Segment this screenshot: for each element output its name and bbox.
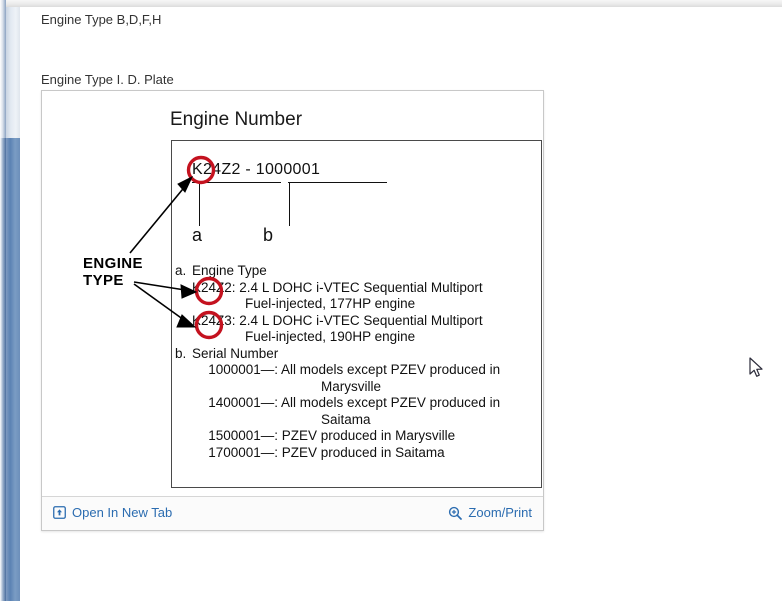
diagram-title: Engine Number: [170, 109, 302, 131]
serial-entry-0-desc2: Marysville: [321, 379, 381, 394]
heading-engine-type-bdfh: Engine Type B,D,F,H: [41, 12, 161, 27]
left-rail-scrollbar-lower[interactable]: [6, 138, 20, 601]
engine-type-entry-1-code: K24Z3:: [192, 313, 236, 328]
engine-type-entry-0-line2: Fuel-injected, 177HP engine: [175, 296, 500, 313]
open-in-new-tab-label: Open In New Tab: [72, 505, 172, 520]
engine-type-entry-0-line1: K24Z2: 2.4 L DOHC i-VTEC Sequential Mult…: [175, 280, 500, 297]
diagram-viewport: Engine Number K24Z2 - 1000001 a b ENGINE…: [42, 91, 543, 497]
callout-letter-b: b: [263, 225, 273, 246]
engine-id-plate-image-card: Engine Number K24Z2 - 1000001 a b ENGINE…: [41, 90, 544, 531]
serial-entry-1-line1: 1400001—: All models except PZEV produce…: [175, 395, 500, 412]
zoom-print-link[interactable]: Zoom/Print: [448, 505, 532, 520]
engine-number-code-text: K24Z2 - 1000001: [192, 161, 320, 179]
open-in-new-tab-icon: [53, 506, 66, 519]
browser-top-chrome-bar: [0, 0, 782, 7]
engine-type-label-line1: ENGINE: [83, 255, 143, 272]
section-b-marker: b.: [175, 346, 192, 363]
serial-entry-2-key: 1500001—:: [192, 428, 278, 445]
serial-entry-3-line1: 1700001—: PZEV produced in Saitama: [175, 445, 500, 462]
section-b-heading-text: Serial Number: [192, 346, 278, 361]
serial-entry-1-line2: Saitama: [175, 412, 500, 429]
engine-type-entry-1-line2: Fuel-injected, 190HP engine: [175, 329, 500, 346]
engine-type-entry-0-desc: 2.4 L DOHC i-VTEC Sequential Multiport: [239, 280, 482, 295]
open-in-new-tab-link[interactable]: Open In New Tab: [53, 505, 172, 520]
serial-entry-2-desc: PZEV produced in Marysville: [282, 428, 455, 443]
serial-entry-1-desc2: Saitama: [321, 412, 371, 427]
zoom-print-label: Zoom/Print: [468, 505, 532, 520]
left-navigation-rail: [0, 0, 24, 601]
engine-type-entry-1-desc: 2.4 L DOHC i-VTEC Sequential Multiport: [239, 313, 482, 328]
diagram-detail-text-block: a.Engine Type K24Z2: 2.4 L DOHC i-VTEC S…: [175, 263, 500, 461]
serial-entry-1-desc: All models except PZEV produced in: [281, 395, 500, 410]
serial-entry-3-key: 1700001—:: [192, 445, 278, 462]
serial-entry-0-line2: Marysville: [175, 379, 500, 396]
section-a-marker: a.: [175, 263, 192, 280]
leader-line-a-vertical: [199, 182, 200, 226]
magnifier-plus-icon: [448, 506, 462, 520]
left-rail-edge-shadow: [0, 138, 6, 601]
left-rail-scrollbar-upper[interactable]: [6, 7, 20, 138]
section-a-heading-text: Engine Type: [192, 263, 267, 278]
serial-entry-2-line1: 1500001—: PZEV produced in Marysville: [175, 428, 500, 445]
serial-entry-1-key: 1400001—:: [192, 395, 278, 412]
heading-engine-type-id-plate: Engine Type I. D. Plate: [41, 72, 174, 87]
callout-letter-a: a: [192, 225, 202, 246]
detail-section-a-heading: a.Engine Type: [175, 263, 500, 280]
arrow-cursor: [749, 357, 765, 379]
engine-type-entry-1-line1: K24Z3: 2.4 L DOHC i-VTEC Sequential Mult…: [175, 313, 500, 330]
page-content-area: Engine Type B,D,F,H Engine Type I. D. Pl…: [24, 7, 782, 601]
serial-entry-0-desc: All models except PZEV produced in: [281, 362, 500, 377]
image-card-footer: Open In New Tab Zoom/Print: [42, 496, 543, 530]
leader-line-a-horizontal: [192, 182, 281, 183]
engine-type-entry-0-code: K24Z2:: [192, 280, 236, 295]
engine-type-label-line2: TYPE: [83, 272, 143, 289]
leader-line-b-horizontal: [288, 182, 387, 183]
serial-entry-3-desc: PZEV produced in Saitama: [282, 445, 445, 460]
serial-entry-0-line1: 1000001—: All models except PZEV produce…: [175, 362, 500, 379]
leader-line-b-vertical: [289, 182, 290, 226]
engine-type-annotation-label: ENGINE TYPE: [83, 255, 143, 289]
detail-section-b-heading: b.Serial Number: [175, 346, 500, 363]
serial-entry-0-key: 1000001—:: [192, 362, 278, 379]
